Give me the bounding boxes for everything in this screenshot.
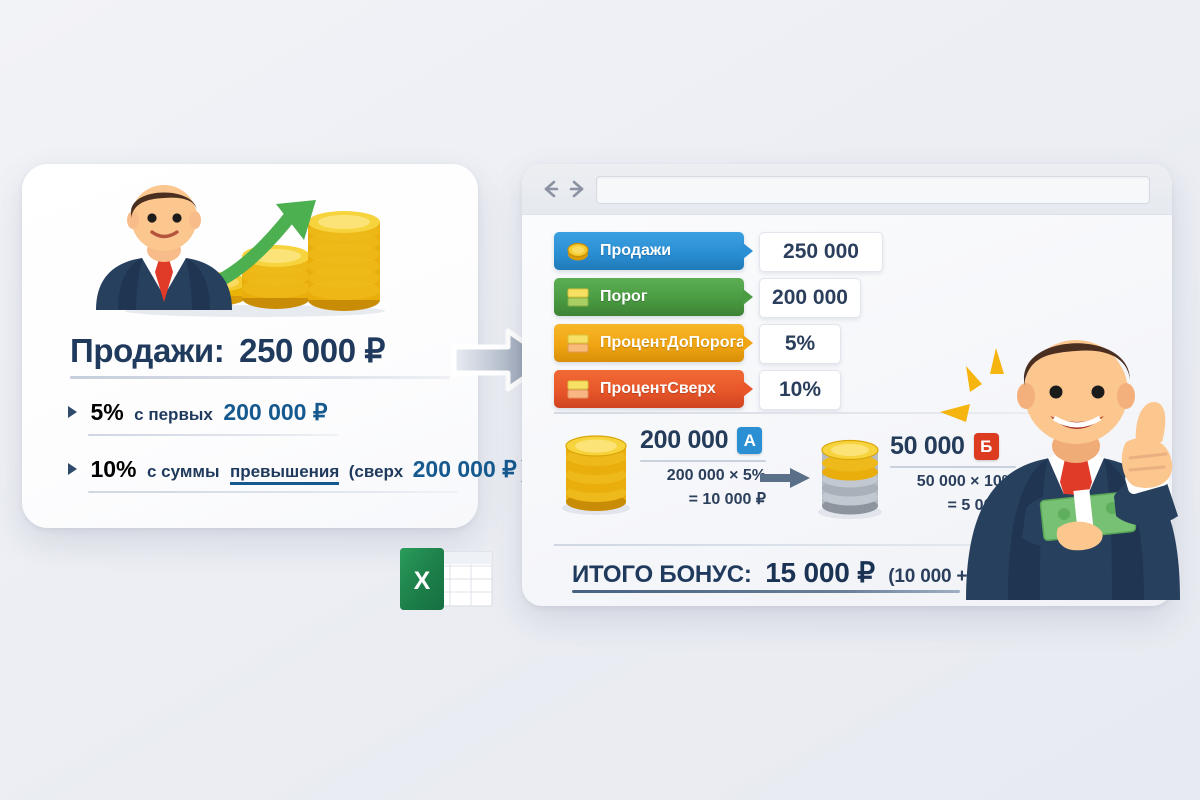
bullet-item-first-tier: 5% с первых 200 000 ₽	[68, 399, 328, 426]
bullet-amount: 200 000 ₽	[413, 456, 517, 482]
browser-toolbar	[522, 164, 1172, 215]
row-value: 5%	[759, 324, 841, 364]
row-value: 10%	[759, 370, 841, 410]
infographic-canvas: Продажи: 250 000 ₽ 5% с первых 200 000 ₽…	[0, 0, 1200, 800]
bullet-text-before: с первых	[134, 405, 213, 424]
row-value: 250 000	[759, 232, 883, 272]
gold-coin-icon	[565, 240, 591, 262]
orange-cell-icon	[565, 332, 591, 354]
bullet-divider-2	[88, 491, 458, 493]
sales-title-label: Продажи:	[70, 332, 224, 369]
row-label: ПроцентСверх	[600, 380, 716, 398]
bullet-triangle-icon	[68, 463, 77, 475]
title-divider	[70, 376, 450, 379]
green-cell-icon	[565, 286, 591, 308]
arrow-left-icon[interactable]	[540, 178, 562, 200]
row-label: Порог	[600, 288, 647, 306]
calc-block-a: 200 000 А 200 000 × 5% = 10 000 ₽	[640, 426, 766, 509]
row-label: ПроцентДоПорога	[600, 334, 745, 352]
excel-letter: X	[414, 567, 431, 595]
sales-title-value: 250 000 ₽	[239, 332, 385, 369]
bullet-divider-1	[88, 434, 338, 436]
badge-a: А	[737, 427, 762, 454]
excel-file-icon[interactable]: X	[392, 548, 496, 610]
sales-title: Продажи: 250 000 ₽	[70, 331, 450, 370]
bullet-underlined-text: превышения	[230, 462, 339, 485]
bullet-amount: 200 000 ₽	[223, 399, 327, 425]
row-value: 200 000	[759, 278, 861, 318]
calc-amount-a: 200 000	[640, 426, 728, 455]
total-value: 15 000 ₽	[765, 557, 875, 588]
address-bar-input[interactable]	[596, 176, 1150, 204]
businessman-growth-illustration	[80, 178, 410, 318]
bullet-percent: 5%	[90, 399, 123, 425]
total-underline	[572, 590, 960, 593]
red-cell-icon	[565, 378, 591, 400]
bullet-triangle-icon	[68, 406, 77, 418]
gold-silver-coin-stack-icon	[810, 434, 896, 522]
calc-formula-a-line1: 200 000 × 5%	[640, 467, 766, 485]
calc-formula-a-line2: = 10 000 ₽	[640, 489, 766, 509]
calc-divider-a	[640, 460, 766, 462]
gold-coin-stack-icon	[556, 428, 642, 516]
row-label: Продажи	[600, 242, 671, 260]
bullet-text-before: с суммы	[147, 462, 220, 481]
bullet-text-after: (сверх	[349, 462, 403, 481]
bullet-percent: 10%	[90, 456, 136, 482]
bullet-item-second-tier: 10% с суммы превышения (сверх 200 000 ₽ …	[68, 456, 529, 483]
arrow-right-icon[interactable]	[566, 178, 588, 200]
left-summary-card: Продажи: 250 000 ₽ 5% с первых 200 000 ₽…	[22, 164, 478, 528]
total-label: ИТОГО БОНУС:	[572, 561, 752, 588]
happy-businessman-with-cash-illustration	[930, 300, 1180, 600]
arrow-right-icon	[760, 468, 810, 488]
